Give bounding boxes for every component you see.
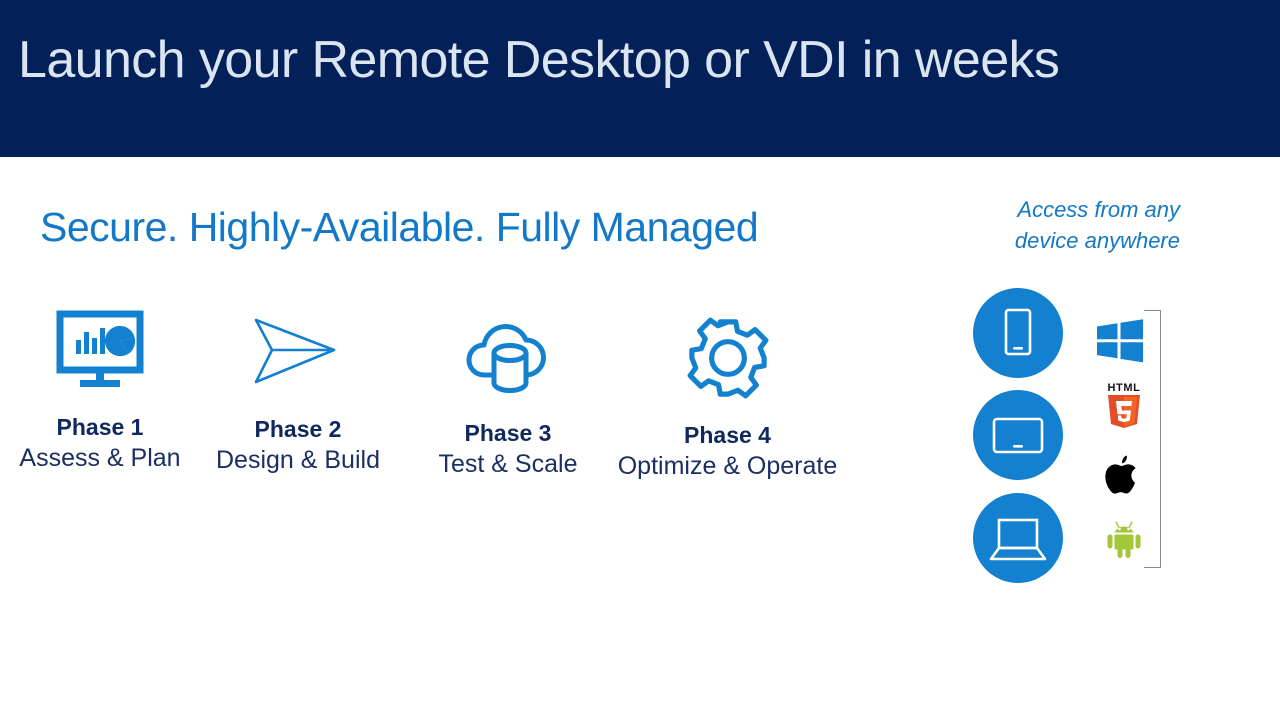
access-caption: Access from any device anywhere xyxy=(950,194,1180,256)
phase-subtitle: Design & Build xyxy=(198,446,398,475)
html5-logo-icon: HTML xyxy=(1098,378,1150,430)
phase-item-1: Phase 1 Assess & Plan xyxy=(0,310,200,473)
apple-logo-icon xyxy=(1096,450,1148,502)
access-caption-line-1: Access from any xyxy=(950,194,1180,225)
phase-title: Phase 2 xyxy=(198,416,398,443)
phase-subtitle: Test & Scale xyxy=(408,450,608,479)
gear-icon xyxy=(605,315,850,406)
phase-subtitle: Optimize & Operate xyxy=(605,452,850,481)
page-title: Launch your Remote Desktop or VDI in wee… xyxy=(18,30,1059,90)
platform-bracket xyxy=(1144,310,1161,568)
device-circle-laptop xyxy=(973,493,1063,583)
phase-title: Phase 4 xyxy=(605,422,850,449)
svg-text:HTML: HTML xyxy=(1108,382,1141,394)
access-caption-line-2: device anywhere xyxy=(950,225,1180,256)
monitor-analytics-icon xyxy=(0,310,200,401)
phase-item-4: Phase 4 Optimize & Operate xyxy=(605,315,850,481)
paper-plane-icon xyxy=(198,310,398,401)
phase-subtitle: Assess & Plan xyxy=(0,444,200,473)
header-bar: Launch your Remote Desktop or VDI in wee… xyxy=(0,0,1280,157)
laptop-icon xyxy=(973,493,1063,583)
subtitle-tagline: Secure. Highly-Available. Fully Managed xyxy=(40,204,758,251)
phase-item-2: Phase 2 Design & Build xyxy=(198,310,398,475)
cloud-database-icon xyxy=(408,313,608,404)
phase-item-3: Phase 3 Test & Scale xyxy=(408,313,608,479)
windows-logo-icon xyxy=(1094,315,1146,367)
phase-title: Phase 3 xyxy=(408,420,608,447)
android-logo-icon xyxy=(1098,513,1150,565)
phone-icon xyxy=(973,288,1063,378)
device-circle-tablet xyxy=(973,390,1063,480)
phase-title: Phase 1 xyxy=(0,414,200,441)
device-circle-phone xyxy=(973,288,1063,378)
tablet-icon xyxy=(973,390,1063,480)
